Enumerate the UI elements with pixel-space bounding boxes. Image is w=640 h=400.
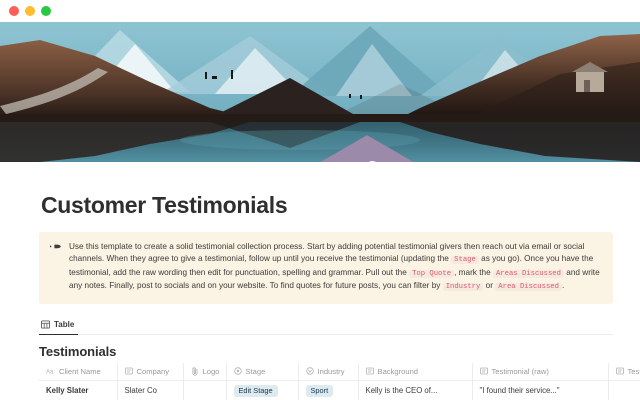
close-window-button[interactable] <box>9 6 19 16</box>
point-right-hand-icon <box>50 241 61 255</box>
table-body: Kelly Slater Slater Co Edit Stage Sport … <box>39 380 640 400</box>
column-header-testimonial-edit[interactable]: Testimonial (edit) <box>608 363 640 381</box>
column-header-industry[interactable]: Industry <box>298 363 358 381</box>
status-badge: Edit Stage <box>234 385 278 397</box>
column-header-logo[interactable]: Logo <box>183 363 226 381</box>
cell-industry[interactable]: Sport <box>298 380 358 400</box>
inline-code-chip: Stage <box>451 256 479 264</box>
text-lines-icon <box>366 367 374 375</box>
database-view: Table Testimonials Aa Client Name <box>39 318 640 400</box>
text-lines-icon <box>125 367 133 375</box>
maximize-window-button[interactable] <box>41 6 51 16</box>
cell-testimonial-raw[interactable]: "I found their service..." <box>472 380 608 400</box>
traffic-lights <box>9 6 51 16</box>
inline-code-chip: Industry <box>443 283 484 291</box>
database-title: Testimonials <box>39 344 640 359</box>
testimonials-table: Aa Client Name Company Logo Stage <box>39 363 640 400</box>
minimize-window-button[interactable] <box>25 6 35 16</box>
table-header-row: Aa Client Name Company Logo Stage <box>39 363 640 381</box>
column-label: Client Name <box>59 367 101 376</box>
column-header-background[interactable]: Background <box>358 363 472 381</box>
cell-stage[interactable]: Edit Stage <box>226 380 298 400</box>
page-title: Customer Testimonials <box>41 192 640 219</box>
column-label: Background <box>378 367 419 376</box>
select-circle-icon <box>234 367 242 375</box>
inline-code-chip: Top Quote <box>409 270 454 278</box>
column-header-testimonial-raw[interactable]: Testimonial (raw) <box>472 363 608 381</box>
cell-logo[interactable] <box>183 380 226 400</box>
callout-block[interactable]: Use this template to create a solid test… <box>39 232 613 304</box>
text-lines-icon <box>480 367 488 375</box>
cell-client-name[interactable]: Kelly Slater <box>39 380 117 400</box>
inline-code-chip: Areas Discussed <box>493 270 564 278</box>
cover-image[interactable] <box>0 22 640 162</box>
column-label: Stage <box>246 367 266 376</box>
column-label: Testimonial (raw) <box>492 367 549 376</box>
table-row[interactable]: Kelly Slater Slater Co Edit Stage Sport … <box>39 380 640 400</box>
point-right-hand-glyph <box>50 242 61 251</box>
title-aa-icon: Aa <box>46 367 55 375</box>
column-label: Company <box>137 367 170 376</box>
window-titlebar <box>0 0 640 22</box>
paperclip-icon <box>191 367 199 376</box>
status-badge: Sport <box>306 385 334 397</box>
inline-code-chip: Area Discussed <box>495 283 562 291</box>
table-grid-icon <box>41 320 50 329</box>
tab-table[interactable]: Table <box>39 318 78 335</box>
cell-company[interactable]: Slater Co <box>117 380 183 400</box>
column-header-stage[interactable]: Stage <box>226 363 298 381</box>
view-tab-bar: Table <box>39 318 613 335</box>
text-lines-icon <box>616 367 624 375</box>
column-header-client-name[interactable]: Aa Client Name <box>39 363 117 381</box>
app-window: Customer Testimonials Use this template … <box>0 0 640 400</box>
column-label: Testimonial (edit) <box>628 367 640 376</box>
svg-text:Aa: Aa <box>46 370 54 376</box>
select-circle-icon <box>306 367 314 375</box>
tab-table-label: Table <box>54 320 74 329</box>
callout-text: Use this template to create a solid test… <box>69 241 601 294</box>
group-of-people-icon[interactable] <box>47 127 640 162</box>
cell-testimonial-edit[interactable] <box>608 380 640 400</box>
cell-background[interactable]: Kelly is the CEO of... <box>358 380 472 400</box>
page-content: Customer Testimonials Use this template … <box>0 192 640 400</box>
column-label: Logo <box>203 367 220 376</box>
column-label: Industry <box>318 367 345 376</box>
column-header-company[interactable]: Company <box>117 363 183 381</box>
